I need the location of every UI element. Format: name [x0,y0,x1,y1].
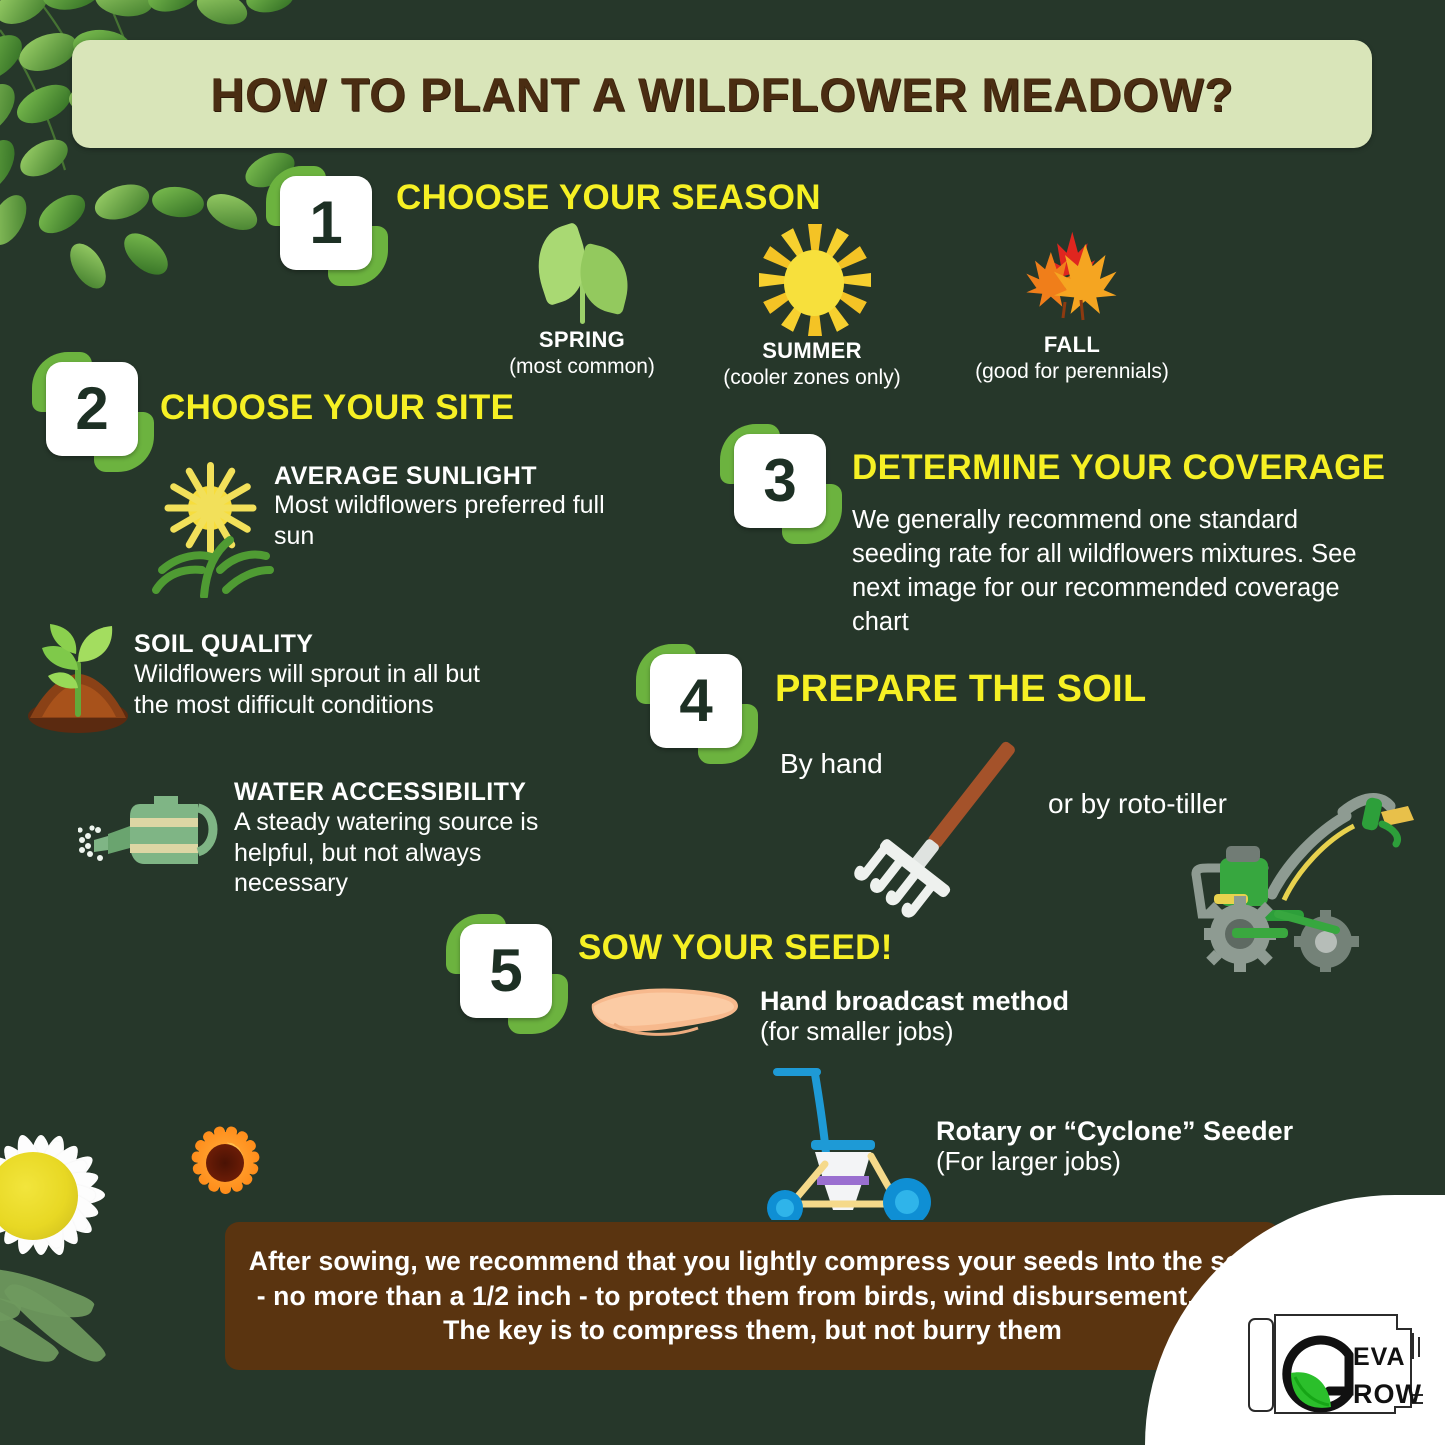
roto-tiller-icon [1168,782,1445,972]
step-badge-2: 2 [38,356,146,464]
rotary-seeder-note: (For larger jobs) [936,1146,1121,1177]
grass-icon [148,536,278,598]
badge-square: 5 [460,924,552,1018]
season-name: FALL [962,332,1182,358]
sprout-icon [522,222,642,327]
bottom-note-box: After sowing, we recommend that you ligh… [225,1222,1280,1370]
soil-quality-body: Wildflowers will sprout in all but the m… [134,659,494,720]
page-title-banner: HOW TO PLANT A WILDFLOWER MEADOW? [72,40,1372,148]
step-badge-5: 5 [452,918,560,1026]
badge-square: 4 [650,654,742,748]
season-name: SPRING [472,327,692,353]
seedling-in-soil-icon [20,618,140,733]
season-note: (good for perennials) [962,360,1182,384]
coverage-body: We generally recommend one standard seed… [852,504,1372,640]
logo-word-top: EVA [1353,1343,1406,1371]
step-number-1: 1 [309,193,342,253]
infographic-canvas: HOW TO PLANT A WILDFLOWER MEADOW? 1 CHOO… [0,0,1445,1445]
sun-icon [752,228,872,338]
step-number-3: 3 [763,451,796,511]
sun-over-grass-icon [148,452,268,582]
rotary-seeder-heading: Rotary or “Cyclone” Seeder [936,1116,1293,1147]
logo-word-bottom: ROW [1353,1379,1422,1409]
season-note: (cooler zones only) [702,366,922,390]
water-accessibility-body: A steady watering source is helpful, but… [234,807,584,899]
badge-square: 3 [734,434,826,528]
step-number-2: 2 [75,379,108,439]
rake-icon [845,730,1055,920]
note-line-3: The key is to compress them, but not bur… [443,1313,1062,1348]
step-title-2: CHOOSE YOUR SITE [160,388,514,428]
page-title: HOW TO PLANT A WILDFLOWER MEADOW? [210,67,1233,122]
season-fall: FALL (good for perennials) [962,222,1182,384]
hand-broadcast-heading: Hand broadcast method [760,986,1069,1017]
step-badge-4: 4 [642,648,750,756]
note-line-2: - no more than a 1/2 inch - to protect t… [257,1279,1248,1314]
season-spring: SPRING (most common) [472,222,692,379]
maple-leaves-icon [1007,222,1137,332]
marigold-center [206,1144,244,1182]
hand-broadcast-note: (for smaller jobs) [760,1016,954,1047]
soil-quality-heading: SOIL QUALITY [134,630,313,659]
open-hand-icon [586,980,756,1060]
watering-can-icon [78,782,228,882]
step-number-4: 4 [679,671,712,731]
step-title-5: SOW YOUR SEED! [578,928,893,968]
sunlight-body: Most wildflowers preferred full sun [274,490,630,551]
season-name: SUMMER [702,338,922,364]
badge-square: 2 [46,362,138,456]
step-badge-1: 1 [272,170,380,278]
marigold-flower [172,1110,278,1216]
brand-logo[interactable]: EVA ROW [1245,1307,1431,1419]
season-note: (most common) [472,355,692,379]
note-line-1: After sowing, we recommend that you ligh… [249,1244,1257,1279]
step-title-1: CHOOSE YOUR SEASON [396,178,821,218]
rotary-seeder-icon [755,1060,945,1220]
badge-square: 1 [280,176,372,270]
water-accessibility-heading: WATER ACCESSIBILITY [234,778,526,807]
sunlight-heading: AVERAGE SUNLIGHT [274,462,537,491]
step-badge-3: 3 [726,428,834,536]
season-summer: SUMMER (cooler zones only) [702,228,922,390]
step-title-3: DETERMINE YOUR COVERAGE [852,448,1385,488]
step-title-4: PREPARE THE SOIL [775,668,1146,711]
step-number-5: 5 [489,941,522,1001]
